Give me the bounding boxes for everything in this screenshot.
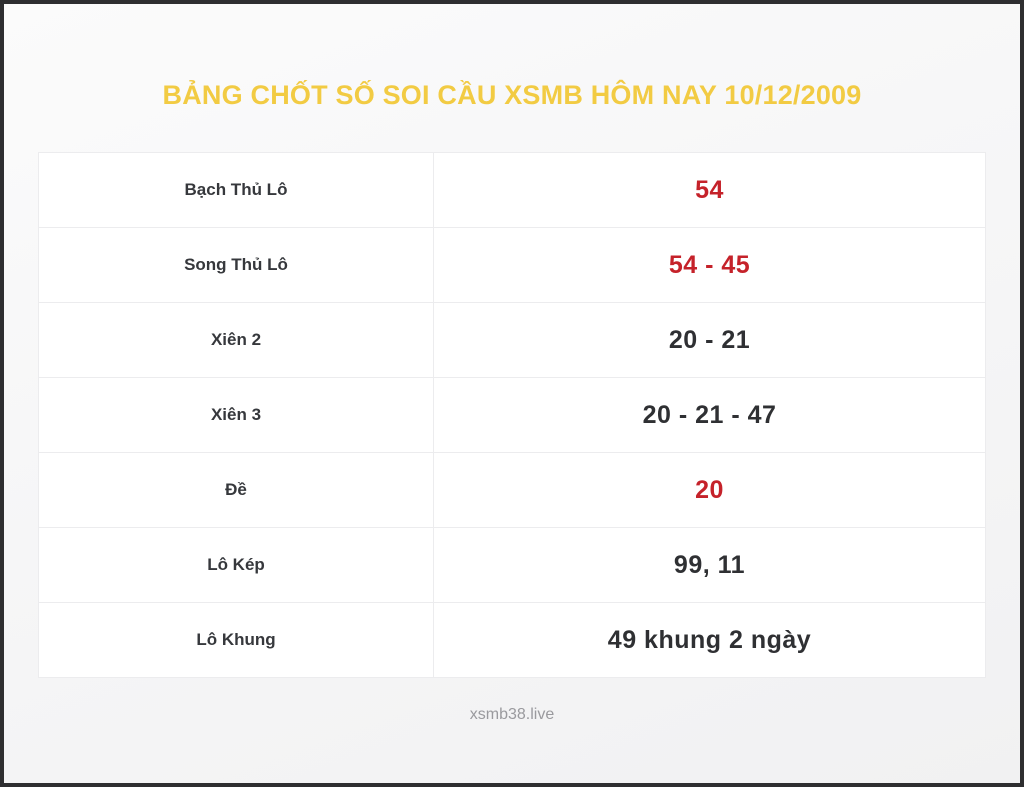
table-row: Xiên 3 20 - 21 - 47 bbox=[39, 378, 986, 453]
table-row: Song Thủ Lô 54 - 45 bbox=[39, 228, 986, 303]
row-value: 99, 11 bbox=[434, 528, 986, 603]
row-label: Lô Khung bbox=[39, 603, 434, 678]
lottery-results-table: Bạch Thủ Lô 54 Song Thủ Lô 54 - 45 Xiên … bbox=[38, 152, 986, 678]
row-value: 54 bbox=[434, 153, 986, 228]
row-label: Xiên 2 bbox=[39, 303, 434, 378]
page-frame: BẢNG CHỐT SỐ SOI CẦU XSMB HÔM NAY 10/12/… bbox=[4, 4, 1020, 783]
row-value: 54 - 45 bbox=[434, 228, 986, 303]
row-label: Xiên 3 bbox=[39, 378, 434, 453]
row-label: Đề bbox=[39, 453, 434, 528]
row-value: 20 - 21 bbox=[434, 303, 986, 378]
row-value: 20 bbox=[434, 453, 986, 528]
site-watermark: xsmb38.live bbox=[4, 706, 1020, 724]
table-row: Lô Kép 99, 11 bbox=[39, 528, 986, 603]
table-row: Bạch Thủ Lô 54 bbox=[39, 153, 986, 228]
table-row: Xiên 2 20 - 21 bbox=[39, 303, 986, 378]
table-row: Đề 20 bbox=[39, 453, 986, 528]
page-title: BẢNG CHỐT SỐ SOI CẦU XSMB HÔM NAY 10/12/… bbox=[4, 80, 1020, 111]
row-label: Lô Kép bbox=[39, 528, 434, 603]
row-value: 20 - 21 - 47 bbox=[434, 378, 986, 453]
table-row: Lô Khung 49 khung 2 ngày bbox=[39, 603, 986, 678]
row-label: Bạch Thủ Lô bbox=[39, 153, 434, 228]
row-value: 49 khung 2 ngày bbox=[434, 603, 986, 678]
table-body: Bạch Thủ Lô 54 Song Thủ Lô 54 - 45 Xiên … bbox=[39, 153, 986, 678]
row-label: Song Thủ Lô bbox=[39, 228, 434, 303]
